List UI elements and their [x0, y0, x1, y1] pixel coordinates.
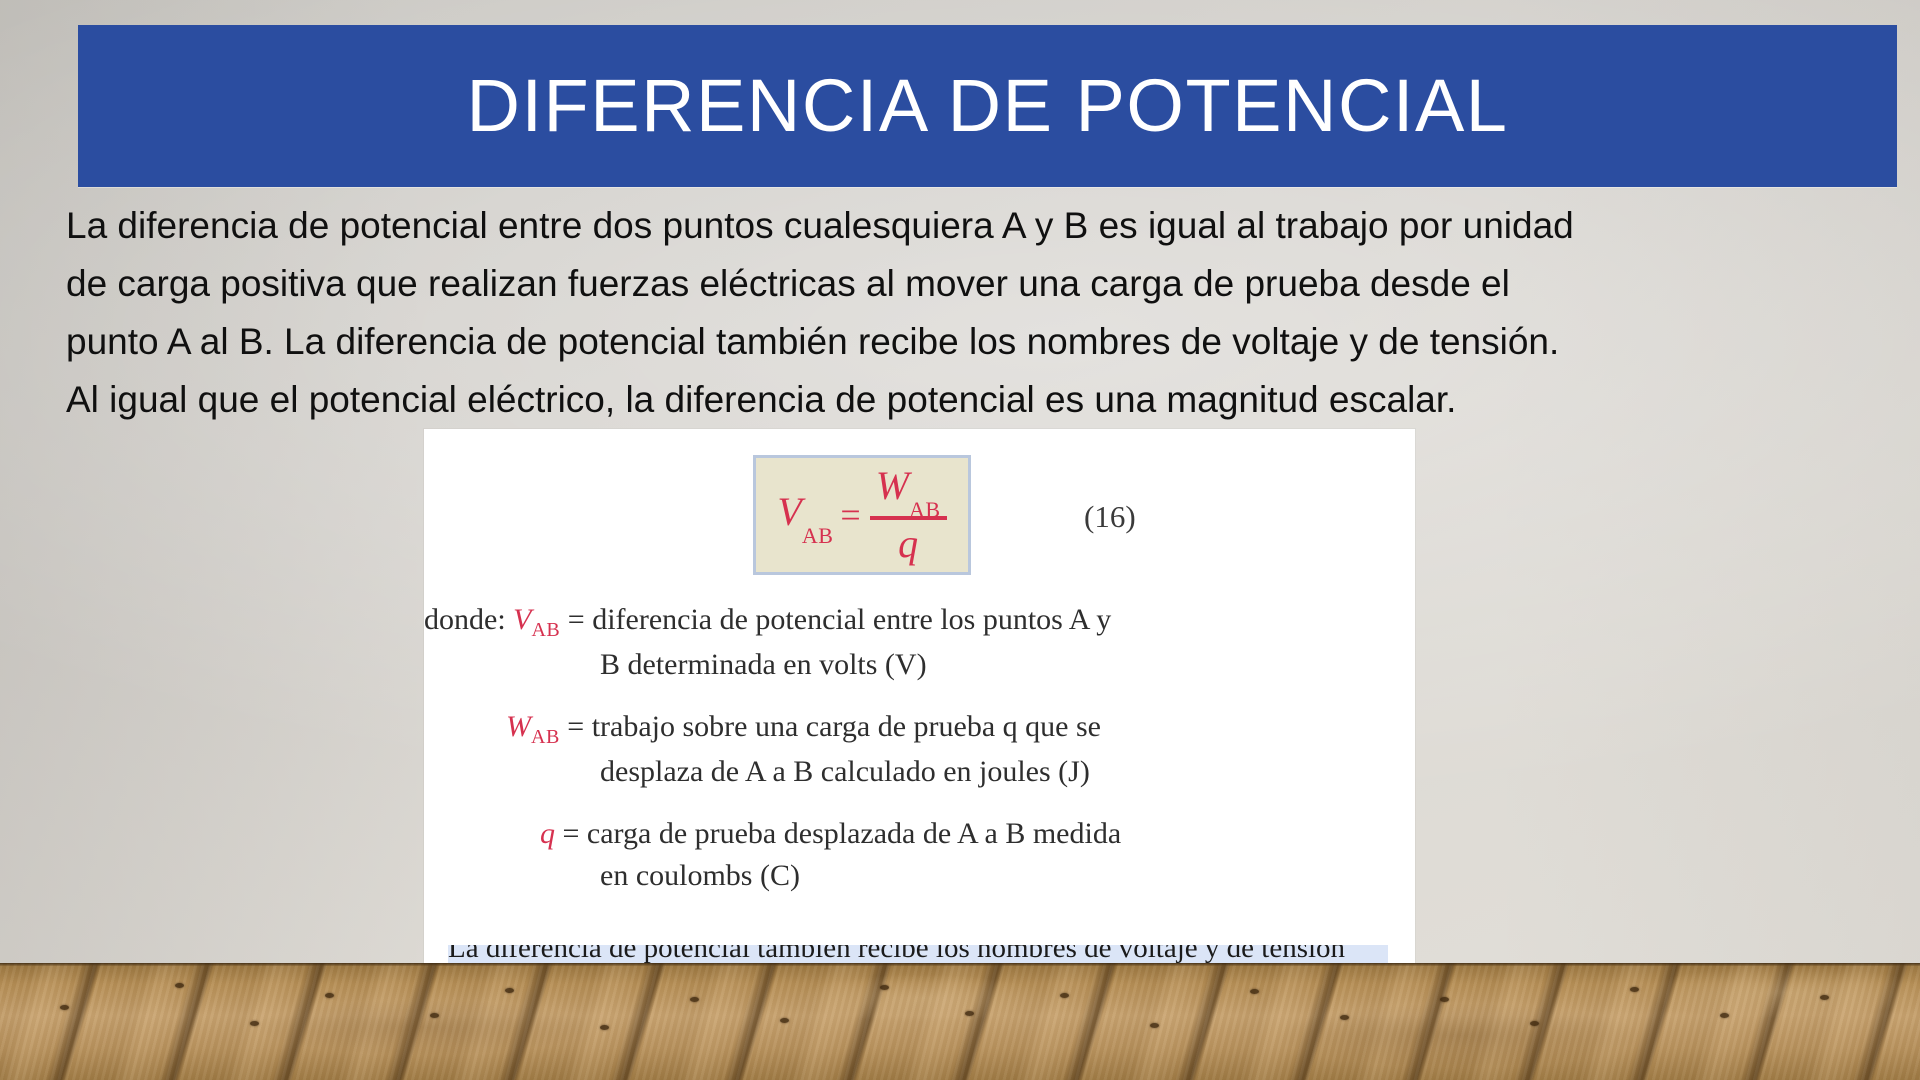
floor-knot — [250, 1021, 259, 1026]
floor-knot — [60, 1005, 69, 1010]
floor-grain — [0, 963, 1920, 1080]
definition-symbol-q: q — [540, 817, 555, 850]
definition-text-w-line1: = trabajo sobre una carga de prueba q qu… — [567, 710, 1101, 743]
equation-operator: = — [840, 494, 860, 536]
floor-knot — [430, 1013, 439, 1018]
floor-knot — [600, 1025, 609, 1030]
body-line-3: punto A al B. La diferencia de potencial… — [66, 313, 1898, 371]
floor-knot — [1720, 1013, 1729, 1018]
definition-symbol-w: WAB — [506, 710, 560, 743]
floor-knot — [1820, 995, 1829, 1000]
definition-item-w: WAB = trabajo sobre una carga de prueba … — [424, 706, 1415, 793]
floor-knot — [690, 997, 699, 1002]
slide-title: DIFERENCIA DE POTENCIAL — [467, 69, 1509, 143]
definition-text-q-line2: en coulombs (C) — [424, 855, 1415, 897]
equation-row: VAB = WAB q (16) — [424, 455, 1415, 579]
definition-text-q-line1: = carga de prueba desplazada de A a B me… — [563, 817, 1122, 850]
floor-knot — [505, 988, 514, 993]
definition-item-v: donde: VAB = diferencia de potencial ent… — [424, 599, 1415, 686]
equation-number: (16) — [1084, 499, 1136, 535]
cut-off-text: La diferencia de potencial también recib… — [448, 945, 1388, 963]
floor-knot — [965, 1011, 974, 1016]
equation-fraction: WAB q — [870, 465, 947, 565]
equation-lhs: VAB — [777, 492, 833, 538]
presentation-slide: DIFERENCIA DE POTENCIAL La diferencia de… — [0, 0, 1920, 1080]
embedded-figure-image: VAB = WAB q (16) donde: VAB = diferencia… — [424, 429, 1415, 963]
definition-text-v-line2: B determinada en volts (V) — [424, 644, 1415, 686]
body-line-2: de carga positiva que realizan fuerzas e… — [66, 255, 1898, 313]
floor-knot — [1340, 1015, 1349, 1020]
body-line-1: La diferencia de potencial entre dos pun… — [66, 197, 1898, 255]
definition-symbol-v: VAB — [513, 603, 560, 636]
slide-title-banner: DIFERENCIA DE POTENCIAL — [78, 25, 1897, 187]
definition-text-v-line1: = diferencia de potencial entre los punt… — [568, 603, 1111, 636]
slide-body-paragraph: La diferencia de potencial entre dos pun… — [66, 197, 1898, 429]
floor-knot — [1440, 997, 1449, 1002]
floor-knot — [325, 993, 334, 998]
floor-knot — [1530, 1021, 1539, 1026]
definition-item-q: q = carga de prueba desplazada de A a B … — [424, 813, 1415, 897]
equation-formula: VAB = WAB q — [777, 465, 946, 565]
equation-denominator: q — [892, 523, 924, 565]
floor-knot — [1150, 1023, 1159, 1028]
floor-knot — [175, 983, 184, 988]
cut-off-highlighted-line: La diferencia de potencial también recib… — [448, 945, 1388, 963]
floor-knot — [1250, 989, 1259, 994]
floor-knot — [1060, 993, 1069, 998]
definition-text-w-line2: desplaza de A a B calculado en joules (J… — [424, 751, 1415, 793]
body-line-4: Al igual que el potencial eléctrico, la … — [66, 371, 1898, 429]
definitions-list: donde: VAB = diferencia de potencial ent… — [424, 599, 1415, 917]
floor-knot — [1630, 987, 1639, 992]
definitions-label: donde: — [424, 603, 506, 636]
floor-edge-line — [0, 963, 1920, 966]
wooden-floor — [0, 963, 1920, 1080]
floor-knot — [780, 1018, 789, 1023]
equation-highlight-box: VAB = WAB q — [753, 455, 971, 575]
equation-numerator: WAB — [870, 465, 947, 513]
floor-knot — [880, 985, 889, 990]
